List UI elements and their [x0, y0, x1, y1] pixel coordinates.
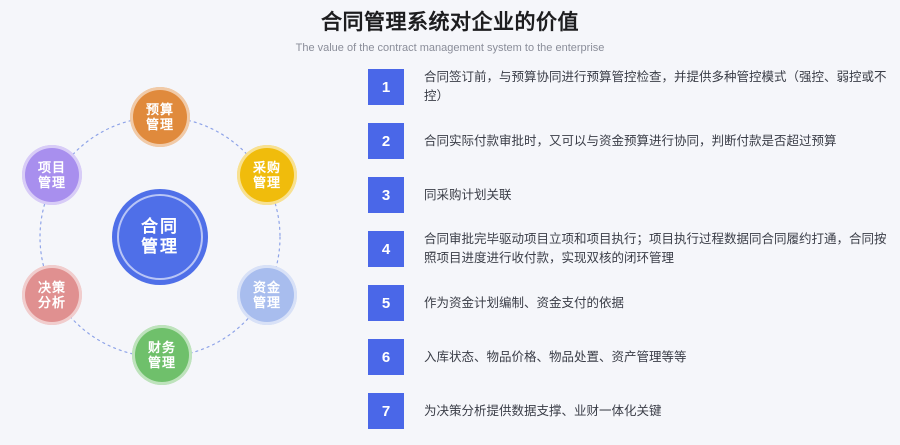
diagram-node-purchase-management[interactable]: 采购管理: [237, 145, 297, 205]
page-header: 合同管理系统对企业的价值 The value of the contract m…: [0, 0, 900, 57]
node-label: 项目管理: [38, 160, 66, 191]
list-item-text: 合同实际付款审批时，又可以与资金预算进行协同，判断付款是否超过预算: [424, 132, 837, 151]
list-item-number-badge: 2: [368, 123, 404, 159]
content-stage: 合同管理 预算管理 采购管理 资金管理 财务管理 决策分析 项目管理 1 合同签…: [0, 57, 900, 445]
list-item-number-badge: 3: [368, 177, 404, 213]
list-item-text: 合同签订前，与预算协同进行预算管控检查，并提供多种管控模式（强控、弱控或不控）: [424, 68, 888, 106]
node-label: 预算管理: [146, 102, 174, 133]
node-label: 采购管理: [253, 160, 281, 191]
list-item[interactable]: 6 入库状态、物品价格、物品处置、资产管理等等: [368, 333, 888, 381]
page-title: 合同管理系统对企业的价值: [0, 8, 900, 38]
list-item[interactable]: 1 合同签订前，与预算协同进行预算管控检查，并提供多种管控模式（强控、弱控或不控…: [368, 63, 888, 111]
diagram-node-decision-analysis[interactable]: 决策分析: [22, 265, 82, 325]
list-item-number-badge: 7: [368, 393, 404, 429]
diagram-node-contract-management[interactable]: 合同管理: [112, 189, 208, 285]
list-item-number-badge: 4: [368, 231, 404, 267]
list-item[interactable]: 3 同采购计划关联: [368, 171, 888, 219]
page-subtitle: The value of the contract management sys…: [0, 39, 900, 57]
value-cycle-diagram: 合同管理 预算管理 采购管理 资金管理 财务管理 决策分析 项目管理: [0, 57, 340, 445]
list-item-number-badge: 5: [368, 285, 404, 321]
list-item-text: 作为资金计划编制、资金支付的依据: [424, 294, 624, 313]
node-label: 合同管理: [141, 217, 179, 257]
list-item[interactable]: 2 合同实际付款审批时，又可以与资金预算进行协同，判断付款是否超过预算: [368, 117, 888, 165]
list-item[interactable]: 4 合同审批完毕驱动项目立项和项目执行；项目执行过程数据同合同履约打通，合同按照…: [368, 225, 888, 273]
list-item-text: 同采购计划关联: [424, 186, 512, 205]
diagram-node-funds-management[interactable]: 资金管理: [237, 265, 297, 325]
node-label: 财务管理: [148, 340, 176, 371]
list-item-number-badge: 1: [368, 69, 404, 105]
list-item-text: 入库状态、物品价格、物品处置、资产管理等等: [424, 348, 687, 367]
list-item-text: 合同审批完毕驱动项目立项和项目执行；项目执行过程数据同合同履约打通，合同按照项目…: [424, 230, 888, 268]
list-item-number-badge: 6: [368, 339, 404, 375]
node-label: 资金管理: [253, 280, 281, 311]
diagram-node-finance-management[interactable]: 财务管理: [132, 325, 192, 385]
value-list: 1 合同签订前，与预算协同进行预算管控检查，并提供多种管控模式（强控、弱控或不控…: [368, 63, 888, 443]
node-label: 决策分析: [38, 280, 66, 311]
list-item-text: 为决策分析提供数据支撑、业财一体化关键: [424, 402, 662, 421]
list-item[interactable]: 7 为决策分析提供数据支撑、业财一体化关键: [368, 387, 888, 435]
diagram-node-budget-management[interactable]: 预算管理: [130, 87, 190, 147]
diagram-node-project-management[interactable]: 项目管理: [22, 145, 82, 205]
list-item[interactable]: 5 作为资金计划编制、资金支付的依据: [368, 279, 888, 327]
